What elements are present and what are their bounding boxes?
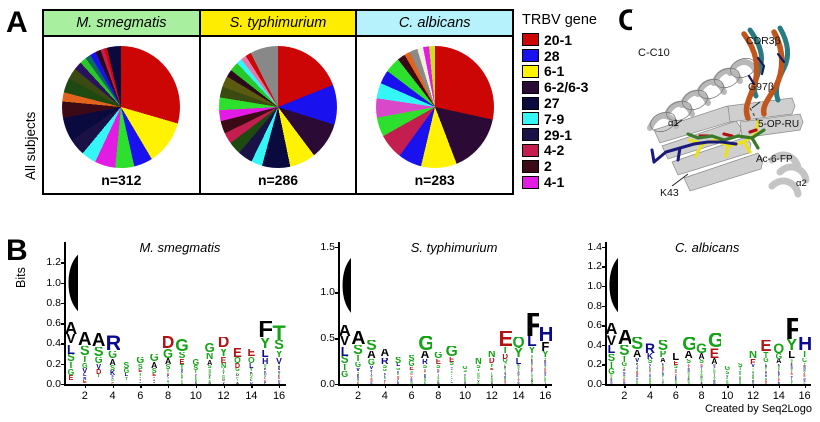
cdr3b-label-text: CDR3β [746, 35, 781, 47]
logo-letter: Y [217, 349, 231, 357]
y-tick-label: 1.5 [311, 241, 335, 253]
logo-letter: S [682, 382, 695, 384]
x-tick-label: 4 [640, 390, 660, 402]
logo-letter: T [351, 355, 364, 362]
logo-letter: A [338, 325, 351, 337]
species-title-2: C. albicans [399, 15, 471, 31]
x-tick-label: 8 [428, 390, 448, 402]
logo-letter: S [64, 354, 78, 362]
pie-chart-row: n=312 n=286 n=283 [44, 37, 512, 193]
y-tick-label: 0.5 [311, 332, 335, 344]
logo-letter: A [175, 382, 189, 384]
logo-column: NEVIATRNGV [747, 351, 760, 384]
y-tick-label: 0.0 [576, 378, 602, 390]
logo-letter: L [525, 336, 538, 347]
logo-letter: T [78, 356, 92, 363]
logo-letter: I [798, 351, 811, 358]
legend-swatch-icon [522, 81, 539, 94]
x-tick-mark [753, 384, 754, 388]
legend-swatch-icon [522, 160, 539, 173]
logo-letter: F [539, 342, 552, 351]
logo-letter: F [258, 321, 272, 338]
x-tick-mark [224, 384, 225, 388]
trbv-gene-legend: TRBV gene 20-1286-16-2/6-3277-929-14-224… [522, 12, 618, 190]
x-tick-mark [113, 384, 114, 388]
x-tick-label: 10 [186, 390, 206, 402]
logo-letter: T [618, 356, 631, 363]
logo-letter: R [445, 382, 458, 384]
species-header-s-typhimurium: S. typhimurium [201, 11, 358, 35]
logo-letter: G [175, 339, 189, 351]
logo-letter: C [64, 245, 78, 322]
logo-column: GASDPIATRNGVE [695, 343, 708, 384]
logo-letter: V [499, 382, 512, 384]
logo-letter: N [203, 353, 217, 360]
legend-label: 6-1 [544, 64, 564, 78]
legend-swatch-icon [522, 65, 539, 78]
x-tick-mark [624, 384, 625, 388]
x-tick-label: 16 [795, 390, 815, 402]
logo-letter: N [708, 382, 721, 384]
x-tick-label: 2 [348, 390, 368, 402]
logo-letter: T [338, 364, 351, 371]
logo-column: CAVLSTGGVEK [338, 247, 351, 384]
x-tick-mark [492, 384, 493, 388]
x-tick-mark [85, 384, 86, 388]
y-tick-label: 0.6 [576, 319, 602, 331]
logo-column: QYLKQSLDPIATR [512, 337, 525, 384]
x-tick-label: 14 [241, 390, 261, 402]
legend-label: 29-1 [544, 128, 572, 142]
legend-item-29-1: 29-1 [522, 127, 618, 143]
logo-letter: S [618, 345, 631, 356]
x-tick-label: 2 [75, 390, 95, 402]
y-tick-label: 0.2 [576, 358, 602, 370]
logo-letter: G [695, 343, 708, 353]
logo-column: GESDPIATRN [432, 352, 445, 384]
x-tick-label: 4 [375, 390, 395, 402]
legend-label: 28 [544, 49, 560, 63]
logo-letter: F [785, 318, 798, 340]
logo-letter: D [392, 382, 405, 384]
legend-label: 6-2/6-3 [544, 80, 588, 94]
x-tick-mark [779, 384, 780, 388]
logo-letter: V [338, 336, 351, 346]
logo-column: GASEATRN [147, 354, 161, 384]
complex-label-text: C-C10 [638, 47, 670, 59]
logo-column: GARSATRNGVE [418, 336, 431, 384]
logo-letter: H [798, 337, 811, 351]
x-tick-label: 14 [769, 390, 789, 402]
logo-letter: A [231, 382, 245, 384]
x-tick-mark [727, 384, 728, 388]
logo-column: SPAEKQSLDPIAT [657, 340, 670, 384]
legend-swatch-icon [522, 97, 539, 110]
y-tick-label: 0.8 [35, 297, 61, 309]
sample-size-0: n=312 [101, 172, 141, 188]
legend-label: 20-1 [544, 33, 572, 47]
logo-letter: A [618, 330, 631, 345]
logo-column: STRNGVEK [734, 363, 747, 384]
panel-c-structure-image: C-C10 CDR3β G97β 5-OP-RU Ac-6-FP α1 α2 K… [632, 10, 816, 206]
y-tick-label: 0.6 [35, 317, 61, 329]
logo-letter: E [244, 349, 258, 357]
logo-column: GNASRNGVEKQ [203, 343, 217, 384]
logo-letter: R [378, 358, 391, 365]
logo-letter: T [64, 362, 78, 369]
species-title-0: M. smegmatis [76, 15, 166, 31]
sample-size-2: n=283 [415, 172, 455, 188]
y-tick-label: 0.4 [35, 337, 61, 349]
logo-letter: G [161, 349, 175, 358]
x-tick-mark [385, 384, 386, 388]
logo-plot-area: CAVLSTGGVEKASTGVTRNGVESAGVPIATRNGARSGSLD… [338, 242, 552, 384]
logo-letter: Y [512, 348, 525, 358]
logo-letter: T [785, 382, 798, 384]
logo-letter: S [365, 340, 378, 351]
x-tick-label: 16 [269, 390, 289, 402]
logo-letter: S [175, 352, 189, 359]
logo-letter: S [338, 356, 351, 364]
logo-column: HICTRNGVEKQSL [798, 337, 811, 384]
logo-letter: R [644, 343, 657, 353]
logo-column: ASTGVTRNGVE [351, 331, 364, 384]
logo-letter: A [78, 332, 92, 345]
logo-letter: G [525, 382, 538, 384]
species-header-row: M. smegmatis S. typhimurium C. albicans [44, 11, 512, 37]
pie-cell-m-smegmatis: n=312 [44, 37, 201, 193]
y-tick-label: 0.0 [35, 378, 61, 390]
logo-column: SAGVPIATRNG [365, 340, 378, 384]
logo-letter: S [272, 340, 286, 350]
pie-cell-s-typhimurium: n=286 [201, 37, 358, 193]
legend-item-7-9: 7-9 [522, 111, 618, 127]
logo-column: GEAQSLDPIATRN [708, 333, 721, 384]
logo-letter: C [338, 247, 351, 325]
logo-column: GSETQSLDPIA [175, 339, 189, 384]
logo-column: CAVLSTGGVEKQ [605, 247, 618, 384]
legend-swatch-icon [522, 176, 539, 189]
logo-letter: T [92, 382, 106, 384]
logo-letter: K [734, 382, 747, 384]
x-tick-mark [251, 384, 252, 388]
ligand-ac6fp-label-text: Ac-6-FP [756, 154, 793, 165]
logo-letter: T [605, 362, 618, 369]
logo-column: ASGVDTPIAT [92, 333, 106, 384]
logo-letter: E [418, 382, 431, 384]
logo-column: SGLTEKQS [120, 362, 134, 384]
logo-letter: D [217, 337, 231, 348]
legend-item-28: 28 [522, 48, 618, 64]
logo-letter: L [64, 345, 78, 354]
legend-label: 4-1 [544, 175, 564, 189]
logo-column: ASTGVLRETRNG [78, 332, 92, 384]
logo-letter: A [92, 333, 106, 346]
x-tick-label: 14 [509, 390, 529, 402]
logo-letter: E [708, 348, 721, 358]
panel-a-letter: A [6, 8, 28, 38]
x-tick-mark [196, 384, 197, 388]
logo-letter: A [64, 322, 78, 334]
logo-letter: G [203, 343, 217, 352]
x-tick-label: 12 [214, 390, 234, 402]
logo-letter: S [657, 340, 670, 351]
logo-letter: T [499, 347, 512, 354]
logo-column: FYLGVEKQSLDPIAT [785, 318, 798, 384]
logo-letter: E [472, 382, 485, 384]
logo-letter: G [445, 346, 458, 357]
logo-column: ARSGSLDPI [378, 349, 391, 384]
protein-structure-svg: C-C10 CDR3β G97β 5-OP-RU Ac-6-FP α1 α2 K… [632, 10, 816, 206]
legend-item-6-2-6-3: 6-2/6-3 [522, 79, 618, 95]
logo-letter: Q [512, 337, 525, 348]
logo-letter: Y [258, 338, 272, 349]
sequence-logo-c-albicans: C. albicans0.00.20.40.60.81.01.21.4CAVLS… [575, 236, 815, 416]
logo-letter: Y [785, 339, 798, 351]
logo-plot-area: CAVLSTGEGVEKASTGVLRETRNGASGVDTPIATRGASKS… [64, 242, 286, 384]
legend-swatch-icon [522, 33, 539, 46]
legend-label: 2 [544, 159, 552, 173]
logo-column: DGASTDPIAT [161, 336, 175, 384]
logo-letter: K [631, 382, 644, 384]
logo-letter: Y [539, 351, 552, 358]
x-tick-mark [519, 384, 520, 388]
logo-letter: L [605, 345, 618, 354]
logo-column: GESQSLDPIATR [445, 346, 458, 384]
legend-item-20-1: 20-1 [522, 32, 618, 48]
logo-letter: V [64, 334, 78, 344]
x-tick-label: 6 [130, 390, 150, 402]
logo-letter: N [147, 382, 161, 384]
logo-letter: A [378, 349, 391, 357]
logo-letter: H [539, 327, 552, 342]
logo-letter: A [631, 350, 644, 358]
species-header-c-albicans: C. albicans [357, 11, 512, 35]
x-tick-mark [676, 384, 677, 388]
legend-item-6-1: 6-1 [522, 64, 618, 80]
logo-column: GSVEKQ [721, 366, 734, 384]
logo-column: RGASKSLDP [106, 335, 120, 384]
x-tick-label: 16 [535, 390, 555, 402]
logo-letter: A [365, 351, 378, 359]
logo-letter: L [338, 347, 351, 356]
legend-swatch-icon [522, 128, 539, 141]
y-tick-label: 0.4 [576, 339, 602, 351]
panel-a-table: M. smegmatis S. typhimurium C. albicans … [42, 9, 514, 195]
logo-column: GASATRNGVEKQS [682, 337, 695, 384]
pie-cell-c-albicans: n=283 [357, 37, 512, 193]
logo-letter: T [657, 382, 670, 384]
logo-letter: V [760, 382, 773, 384]
logo-letter: Y [525, 347, 538, 354]
logo-letter: G [92, 357, 106, 364]
logo-letter: G [682, 337, 695, 351]
x-tick-label: 12 [743, 390, 763, 402]
legend-item-4-2: 4-2 [522, 143, 618, 159]
y-tick-label: 0.8 [576, 300, 602, 312]
x-tick-label: 4 [103, 390, 123, 402]
logo-letter: L [258, 350, 272, 358]
x-tick-mark [545, 384, 546, 388]
logo-letter: G [365, 382, 378, 384]
x-tick-mark [358, 384, 359, 388]
logo-letter: Y [272, 351, 286, 358]
x-tick-label: 10 [717, 390, 737, 402]
logo-letter: E [231, 348, 245, 357]
logo-letter: K [64, 383, 78, 384]
x-tick-mark [140, 384, 141, 388]
logo-column: NDYEIATRNG [485, 351, 498, 384]
x-tick-label: 6 [402, 390, 422, 402]
legend-swatch-icon [522, 144, 539, 157]
logo-letter: A [605, 323, 618, 335]
logo-letter: V [605, 335, 618, 345]
x-tick-mark [438, 384, 439, 388]
logo-column: GSETNGVE [133, 357, 147, 384]
logo-letter: G [133, 357, 147, 364]
logo-letter: G [708, 333, 721, 348]
legend-label: 27 [544, 96, 560, 110]
logo-letter: P [657, 351, 670, 358]
logo-letter: N [485, 351, 498, 358]
legend-item-27: 27 [522, 95, 618, 111]
logo-letter: Q [203, 382, 217, 384]
logo-letter: E [760, 340, 773, 352]
legend-title: TRBV gene [522, 12, 618, 28]
pie-chart-c-albicans [376, 46, 494, 168]
logo-plot-area: CAVLSTGGVEKQASTGTRNGVEKQSAVPIATRNGVEKRKS… [605, 242, 811, 384]
y-tick-label: 0.2 [35, 358, 61, 370]
logo-letter: E [499, 331, 512, 347]
x-tick-mark [279, 384, 280, 388]
helix-alpha1-label-text: α1 [668, 118, 679, 129]
all-subjects-row-label: All subjects [6, 62, 26, 182]
logo-column: ASTGTRNGVEKQ [618, 330, 631, 384]
y-tick-mark [602, 384, 606, 385]
x-tick-mark [168, 384, 169, 388]
logo-column: SAVPIATRNGVEK [631, 337, 644, 384]
logo-column: ETDQLDPIATRNGV [499, 331, 512, 384]
logo-column: LESNGVEKQS [669, 353, 682, 384]
ligand-5oprru-label-text: 5-OP-RU [758, 119, 799, 130]
logo-letter: G [432, 352, 445, 359]
logo-column: EQDGLDPIA [231, 348, 245, 384]
logo-column: QGAKQSLDPIATR [772, 343, 785, 384]
logo-column: GSTVEKQS [189, 359, 203, 384]
x-tick-mark [805, 384, 806, 388]
logo-letter: K [338, 382, 351, 384]
logo-letter: G [106, 351, 120, 359]
logo-letter: S [92, 347, 106, 357]
logo-column: NSYRNGVE [472, 358, 485, 384]
x-tick-label: 6 [666, 390, 686, 402]
x-tick-label: 8 [158, 390, 178, 402]
logo-column: HFYTRNGVEKQSLDPI [539, 327, 552, 384]
logo-letter: S [351, 345, 364, 355]
logo-letter: S [78, 346, 92, 356]
legend-swatch-icon [522, 112, 539, 125]
x-tick-label: 2 [614, 390, 634, 402]
y-tick-label: 1.2 [576, 260, 602, 272]
sequence-logo-s-typhimurium: S. typhimurium0.00.51.01.5CAVLSTGGVEKAST… [310, 236, 558, 416]
x-tick-label: 10 [455, 390, 475, 402]
logo-letter: F [525, 313, 538, 337]
logo-letter: G [147, 354, 161, 362]
logo-letter: L [785, 351, 798, 359]
logo-column: CAVLSTGEGVEK [64, 245, 78, 384]
logo-column: DYENIATRNGV [217, 337, 231, 384]
y-tick-label: 1.0 [35, 277, 61, 289]
logo-letter: S [631, 337, 644, 350]
logo-letter: S [120, 383, 134, 384]
sequence-logo-m-smegmatis: M. smegmatis0.00.20.40.60.81.01.2CAVLSTG… [34, 236, 292, 416]
logo-letter: C [605, 247, 618, 323]
logo-column: RKSSLDPIATRNG [644, 343, 657, 384]
logo-letter: Q [772, 343, 785, 353]
y-tick-label: 1.4 [576, 241, 602, 253]
all-subjects-text: All subjects [23, 112, 38, 180]
logo-letter: N [747, 351, 760, 359]
logo-letter: R [106, 335, 120, 350]
bits-axis-label: Bits [14, 267, 28, 288]
logo-letter: G [418, 336, 431, 351]
logo-column: EQLYKQSLD [244, 349, 258, 384]
y-tick-label: 1.0 [311, 286, 335, 298]
logo-letter: A [682, 351, 695, 359]
sample-size-1: n=286 [258, 172, 298, 188]
y-tick-label: 1.0 [576, 280, 602, 292]
y-tick-label: 0.0 [311, 378, 335, 390]
x-tick-mark [650, 384, 651, 388]
pie-chart-s-typhimurium [219, 46, 337, 168]
panel-b-letter: B [6, 236, 28, 266]
logo-letter: P [258, 382, 272, 384]
pie-chart-m-smegmatis [62, 46, 180, 168]
logo-letter: A [418, 351, 431, 359]
logo-letter: T [272, 325, 286, 340]
legend-item-4-1: 4-1 [522, 174, 618, 190]
logo-column: TSYVTRNGVEKQS [272, 325, 286, 384]
species-header-m-smegmatis: M. smegmatis [44, 11, 201, 35]
x-tick-label: 12 [482, 390, 502, 402]
x-tick-mark [465, 384, 466, 388]
y-tick-mark [61, 384, 65, 385]
residue-k43-label-text: K43 [660, 187, 679, 199]
legend-item-2: 2 [522, 158, 618, 174]
logo-letter: A [351, 331, 364, 345]
helix-alpha2-label-text: α2 [796, 178, 807, 189]
logo-column: SGENGVEKQ [405, 355, 418, 384]
x-tick-label: 8 [692, 390, 712, 402]
legend-label: 4-2 [544, 143, 564, 157]
logo-column: GSVEKQS [458, 366, 471, 384]
x-tick-mark [412, 384, 413, 388]
x-tick-mark [702, 384, 703, 388]
logo-letter: D [161, 336, 175, 348]
logo-column: SLGEKQSLD [392, 357, 405, 384]
y-tick-mark [335, 384, 339, 385]
logo-column: FYLHGVEKQSLDP [258, 321, 272, 384]
logo-letter: L [669, 353, 682, 361]
species-title-1: S. typhimurium [230, 15, 327, 31]
logo-letter: S [605, 354, 618, 362]
legend-swatch-icon [522, 49, 539, 62]
logo-column: FLYGVEKQSLDPIATRNG [525, 313, 538, 384]
logo-letter: Q [605, 382, 618, 384]
y-tick-label: 1.2 [35, 256, 61, 268]
logo-column: ETGLDPIATRNGV [760, 340, 773, 384]
g97b-label-text: G97β [748, 81, 774, 93]
